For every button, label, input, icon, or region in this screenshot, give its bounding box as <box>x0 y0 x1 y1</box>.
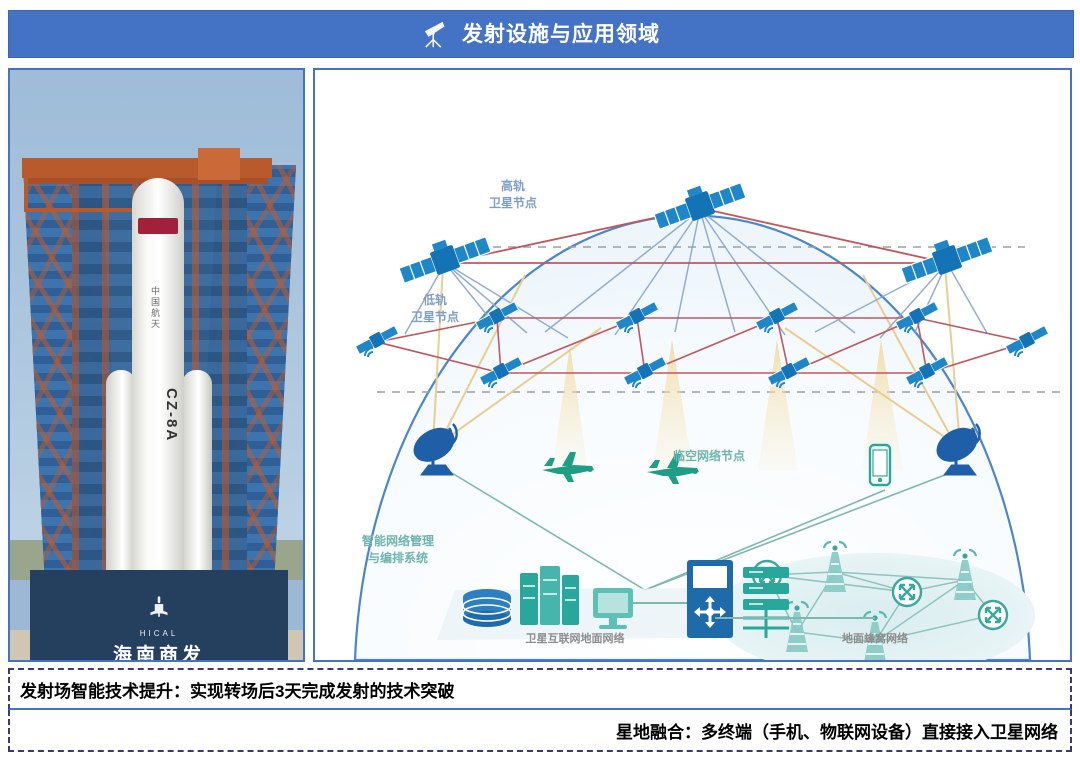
header-bar: 发射设施与应用领域 <box>8 10 1074 58</box>
geo-satellite <box>395 226 492 287</box>
note-row-launch-site: 发射场智能技术提升：实现转场后3天完成发射的技术突破 <box>8 668 1072 710</box>
site-sign-board: HICAL 海南商发 <box>30 570 288 662</box>
server-bank-icon <box>743 567 789 638</box>
rocket-photo: 中国航天 CZ-8A HICAL 海南商发 <box>10 70 303 660</box>
note-text-space-ground-fusion: 星地融合：多终端（手机、物联网设备）直接接入卫星网络 <box>616 718 1058 743</box>
low-orbit-label: 低轨 卫星节点 <box>395 292 475 327</box>
rocket-marking-label: CZ-8A <box>140 388 180 442</box>
management-system-label: 智能网络管理 与编排系统 <box>343 533 453 568</box>
network-architecture-panel: 高轨 卫星节点 低轨 卫星节点 临空网络节点 智能网络管理 与编排系统 卫星互联… <box>313 68 1072 662</box>
launch-site-photo-panel: 中国航天 CZ-8A HICAL 海南商发 <box>8 68 305 662</box>
leo-satellite <box>1005 324 1050 357</box>
core-switch-icon <box>687 560 733 638</box>
note-row-space-ground-fusion: 星地融合：多终端（手机、物联网设备）直接接入卫星网络 <box>8 710 1072 752</box>
rocket-side-text: 中国航天 <box>146 286 162 330</box>
note-text-launch-site: 发射场智能技术提升：实现转场后3天完成发射的技术突破 <box>20 677 454 702</box>
leo-satellite <box>355 324 400 357</box>
rocket-red-band <box>138 218 178 234</box>
caption-satellite-ground-network: 卫星互联网地面网络 <box>475 632 675 648</box>
slide-page: 发射设施与应用领域 中国航天 CZ-8A <box>0 0 1080 759</box>
hical-logo-icon <box>142 593 176 627</box>
smartphone-icon <box>870 445 890 485</box>
page-title: 发射设施与应用领域 <box>462 24 660 45</box>
router-node <box>893 578 921 606</box>
crane-head <box>198 148 240 180</box>
space-ground-network-diagram: 高轨 卫星节点 低轨 卫星节点 临空网络节点 智能网络管理 与编排系统 卫星互联… <box>315 70 1070 660</box>
sign-logo-text: HICAL <box>140 629 179 638</box>
aerial-nodes-label: 临空网络节点 <box>649 448 769 465</box>
database-icon <box>463 589 511 627</box>
diagram-svg <box>315 70 1070 660</box>
high-orbit-label: 高轨 卫星节点 <box>473 178 553 213</box>
caption-terrestrial-cellular-network: 地面蜂窝网络 <box>795 632 955 648</box>
sign-company-name: 海南商发 <box>113 640 205 662</box>
router-node <box>979 601 1007 629</box>
satellite-dish-icon <box>422 19 452 49</box>
